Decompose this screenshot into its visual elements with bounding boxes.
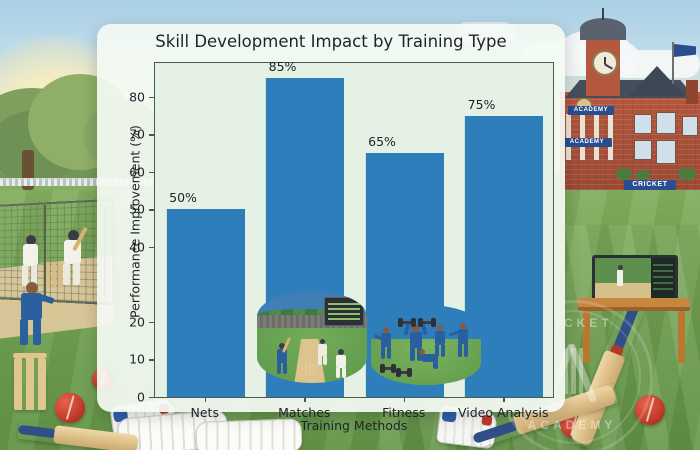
stumps — [14, 358, 46, 410]
video-analysis-footage — [595, 258, 651, 300]
y-tick — [149, 172, 155, 173]
batsman-figure — [54, 230, 94, 290]
x-axis-title: Training Methods — [154, 418, 554, 433]
bar-nets — [166, 209, 245, 397]
x-tick — [304, 397, 305, 402]
match-illustration-overlay — [257, 291, 367, 383]
laptop-screen — [592, 255, 678, 303]
fitness-illustration-overlay — [371, 305, 481, 385]
y-tick — [149, 97, 155, 98]
chart-card: Skill Development Impact by Training Typ… — [97, 24, 565, 412]
clock-icon — [592, 50, 618, 76]
pavilion-sign-cricket: CRICKET — [624, 180, 676, 190]
screenshot-root: ACADEMY ACADEMY CRICKET — [0, 0, 700, 450]
flagpole — [672, 42, 674, 84]
y-axis-title: Performance Improvement (%) — [128, 72, 143, 372]
x-tick — [205, 397, 206, 402]
flag — [674, 44, 696, 57]
table-leg — [678, 311, 685, 363]
bar-value-label: 50% — [169, 190, 197, 205]
chimney — [686, 80, 698, 104]
plot-area: 50%85%65%75% 010204050607080 NetsMatches… — [154, 62, 554, 398]
y-tick — [149, 247, 155, 248]
bar-value-label: 85% — [269, 59, 297, 74]
x-tick — [503, 397, 504, 402]
x-tick — [404, 397, 405, 402]
academy-pavilion: ACADEMY ACADEMY CRICKET — [560, 40, 700, 190]
y-tick — [149, 134, 155, 135]
bar-value-label: 75% — [468, 97, 496, 112]
y-tick — [149, 359, 155, 360]
chart-title: Skill Development Impact by Training Typ… — [97, 32, 565, 51]
y-tick — [149, 209, 155, 210]
pavilion-sign-academy-lower: ACADEMY — [562, 138, 612, 147]
y-tick-label: 0 — [137, 390, 145, 405]
cricket-ball — [55, 393, 85, 423]
y-tick — [149, 322, 155, 323]
bar-value-label: 65% — [368, 134, 396, 149]
analysis-panel — [651, 258, 675, 300]
pavilion-sign-academy-upper: ACADEMY — [568, 106, 614, 115]
y-tick — [149, 397, 155, 398]
coach-figure — [12, 282, 52, 348]
